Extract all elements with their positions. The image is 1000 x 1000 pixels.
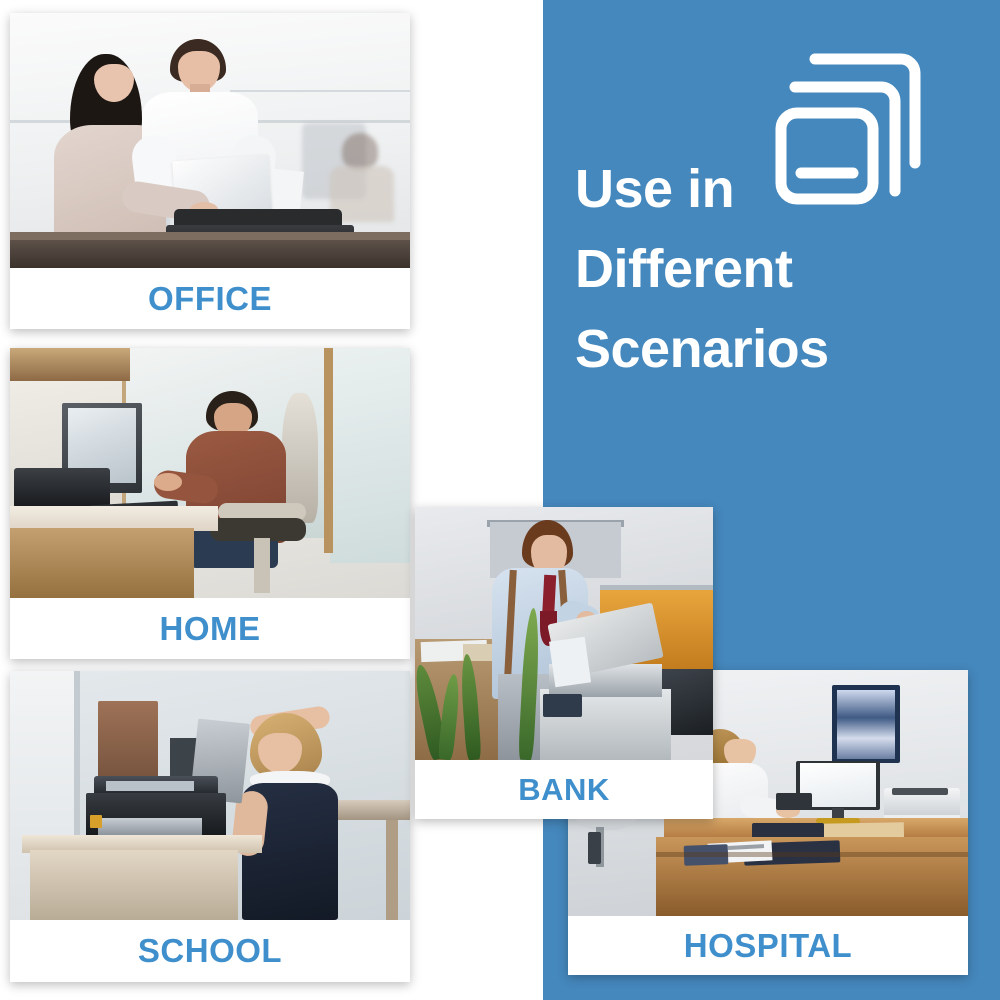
scenario-card-home[interactable]: HOME [10,348,410,659]
office-photo [10,13,410,268]
bank-photo [415,507,713,760]
infographic-canvas: Use in Different Scenarios [0,0,1000,1000]
card-label-home: HOME [10,598,410,659]
home-photo [10,348,410,598]
scenario-card-school[interactable]: SCHOOL [10,671,410,982]
scenario-card-bank[interactable]: BANK [415,507,713,819]
card-label-bank: BANK [415,760,713,819]
school-photo [10,671,410,920]
scenario-card-office[interactable]: OFFICE [10,13,410,329]
card-label-office: OFFICE [10,268,410,329]
card-label-hospital: HOSPITAL [568,916,968,975]
page-headline: Use in Different Scenarios [575,150,905,390]
card-label-school: SCHOOL [10,920,410,982]
